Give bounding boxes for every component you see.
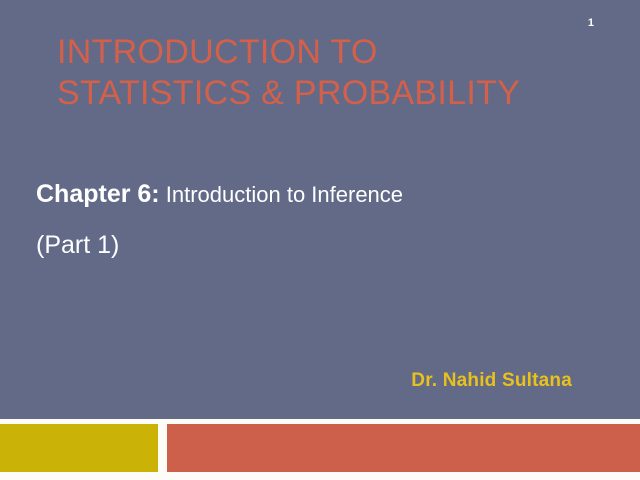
- part-label: (Part 1): [36, 229, 596, 262]
- footer-gold-block: [0, 424, 158, 472]
- presentation-slide: 1 Introduction to Statistics & Probabili…: [0, 0, 640, 480]
- author-name: Dr. Nahid Sultana: [0, 370, 572, 392]
- page-title: Introduction to Statistics & Probability: [57, 32, 597, 114]
- chapter-topic: Introduction to Inference: [166, 182, 403, 207]
- footer-orange-block: [167, 424, 640, 472]
- chapter-label: Chapter 6:: [36, 180, 160, 208]
- page-number: 1: [588, 18, 594, 29]
- chapter-line: Chapter 6: Introduction to Inference: [36, 178, 596, 211]
- subtitle-block: Chapter 6: Introduction to Inference (Pa…: [36, 178, 596, 262]
